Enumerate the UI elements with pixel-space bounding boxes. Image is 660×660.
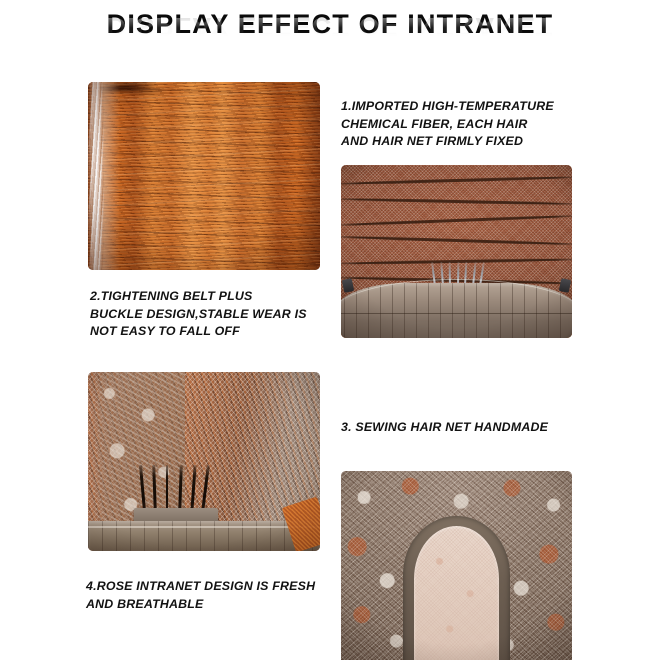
- rose-intranet-lace-photo: [341, 471, 572, 660]
- feature-3-caption: 3. SEWING HAIR NET HANDMADE: [341, 419, 566, 437]
- photo-vignette: [88, 82, 320, 270]
- product-infographic: DISPLAY EFFECT OF INTRANET DISPLAY EFFEC…: [0, 0, 660, 660]
- wig-cap-interior-comb-photo: [341, 165, 572, 338]
- photo-vignette: [341, 471, 572, 660]
- photo-vignette: [341, 165, 572, 338]
- photo-vignette: [88, 372, 320, 551]
- page-title-reflection: DISPLAY EFFECT OF INTRANET: [0, 12, 660, 41]
- feature-4-caption: 4.ROSE INTRANET DESIGN IS FRESH AND BREA…: [86, 578, 331, 613]
- hair-fiber-parting-photo: [88, 82, 320, 270]
- hand-sewn-hair-net-photo: [88, 372, 320, 551]
- feature-1-caption: 1.IMPORTED HIGH-TEMPERATURE CHEMICAL FIB…: [341, 98, 566, 151]
- page-title-block: DISPLAY EFFECT OF INTRANET DISPLAY EFFEC…: [0, 8, 660, 73]
- feature-2-caption: 2.TIGHTENING BELT PLUS BUCKLE DESIGN,STA…: [90, 288, 325, 341]
